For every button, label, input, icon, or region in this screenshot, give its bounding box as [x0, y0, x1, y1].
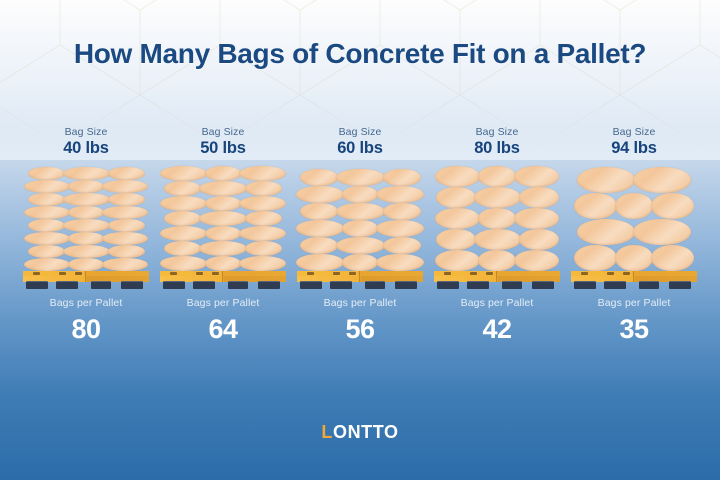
bag-row — [160, 196, 286, 211]
concrete-bag — [24, 258, 70, 271]
concrete-bag — [245, 181, 282, 196]
concrete-bag — [245, 211, 282, 226]
concrete-bag — [577, 167, 635, 193]
bag-row — [434, 250, 560, 271]
bag-size-label: Bag Size — [65, 126, 108, 138]
pallet-seam — [222, 271, 223, 282]
pallet-notch — [349, 272, 356, 275]
concrete-bag — [300, 169, 338, 186]
wooden-pallet — [23, 271, 149, 289]
concrete-bag — [383, 203, 421, 220]
concrete-bag — [376, 254, 424, 271]
concrete-bag — [205, 256, 241, 271]
pallet-notch — [212, 272, 219, 275]
pallet-seam — [85, 271, 86, 282]
pallet-comparison-row: Bag Size 40 lbs — [20, 126, 700, 345]
pallet-notch — [33, 272, 40, 275]
concrete-bag — [63, 245, 110, 258]
concrete-bag — [199, 241, 247, 256]
bags-per-pallet-label: Bags per Pallet — [598, 297, 671, 309]
bag-row — [571, 245, 697, 271]
pallet-column-60lbs: Bag Size 60 lbs — [294, 126, 426, 345]
pallet-foot — [26, 281, 48, 289]
concrete-bag — [108, 193, 145, 206]
concrete-bag — [383, 237, 421, 254]
concrete-bag — [342, 186, 378, 203]
pallet-notch — [486, 272, 493, 275]
bag-row — [297, 254, 423, 271]
bags-per-pallet-value: 64 — [208, 314, 237, 345]
concrete-bag — [164, 241, 201, 256]
concrete-bag — [336, 169, 385, 186]
concrete-bag — [160, 226, 207, 241]
bag-size-label: Bag Size — [476, 126, 519, 138]
pallet-foot — [532, 281, 554, 289]
logo-wordmark: ONTTO — [333, 422, 399, 442]
concrete-bag — [577, 219, 635, 245]
bag-row — [297, 237, 423, 254]
concrete-bag — [615, 193, 653, 219]
concrete-bag — [342, 254, 378, 271]
concrete-bag — [102, 258, 148, 271]
concrete-bag — [633, 167, 691, 193]
concrete-bag — [336, 237, 385, 254]
wooden-pallet — [160, 271, 286, 289]
bag-row — [23, 232, 149, 245]
pallet-notch — [170, 272, 177, 275]
pallet-notch — [333, 272, 340, 275]
concrete-bag — [102, 232, 148, 245]
concrete-bag — [514, 208, 559, 229]
concrete-bag — [63, 193, 110, 206]
concrete-bag — [68, 258, 104, 271]
concrete-bag — [239, 196, 286, 211]
pallet-stack-illustration — [571, 167, 697, 289]
concrete-bag — [24, 206, 70, 219]
bag-row — [297, 203, 423, 220]
concrete-bag — [205, 166, 241, 181]
wooden-pallet — [571, 271, 697, 289]
bag-row — [160, 226, 286, 241]
concrete-bag — [478, 208, 516, 229]
pallet-notch — [75, 272, 82, 275]
bag-stack — [571, 167, 697, 271]
wooden-pallet — [297, 271, 423, 289]
bag-size-value: 60 lbs — [337, 139, 383, 158]
concrete-bag — [205, 226, 241, 241]
bag-stack — [434, 166, 560, 271]
concrete-bag — [68, 232, 104, 245]
concrete-bag — [160, 256, 207, 271]
concrete-bag — [108, 245, 145, 258]
concrete-bag — [519, 187, 559, 208]
pallet-foot — [300, 281, 322, 289]
concrete-bag — [519, 229, 559, 250]
concrete-bag — [108, 219, 145, 232]
bag-row — [434, 208, 560, 229]
pallet-foot — [91, 281, 111, 289]
concrete-bag — [651, 245, 694, 271]
bag-row — [23, 245, 149, 258]
pallet-column-50lbs: Bag Size 50 lbs — [157, 126, 289, 345]
bag-row — [434, 229, 560, 250]
pallet-notch — [470, 272, 477, 275]
bag-row — [160, 211, 286, 226]
pallet-foot — [395, 281, 417, 289]
concrete-bag — [574, 245, 617, 271]
concrete-bag — [199, 211, 247, 226]
wooden-pallet — [434, 271, 560, 289]
bag-row — [297, 186, 423, 203]
pallet-stack-illustration — [23, 167, 149, 289]
concrete-bag — [205, 196, 241, 211]
pallet-notch — [307, 272, 314, 275]
concrete-bag — [239, 256, 286, 271]
concrete-bag — [436, 187, 476, 208]
bags-per-pallet-label: Bags per Pallet — [461, 297, 534, 309]
bag-stack — [160, 166, 286, 271]
bags-per-pallet-value: 42 — [482, 314, 511, 345]
concrete-bag — [102, 206, 148, 219]
bag-row — [23, 167, 149, 180]
bag-size-value: 80 lbs — [474, 139, 520, 158]
pallet-column-40lbs: Bag Size 40 lbs — [20, 126, 152, 345]
pallet-notch — [196, 272, 203, 275]
concrete-bag — [474, 187, 521, 208]
bag-size-value: 50 lbs — [200, 139, 246, 158]
concrete-bag — [514, 250, 559, 271]
bag-row — [23, 206, 149, 219]
pallet-seam — [496, 271, 497, 282]
concrete-bag — [24, 180, 70, 193]
concrete-bag — [296, 186, 344, 203]
concrete-bag — [574, 193, 617, 219]
concrete-bag — [102, 180, 148, 193]
bag-row — [434, 166, 560, 187]
pallet-notch — [607, 272, 614, 275]
concrete-bag — [474, 229, 521, 250]
concrete-bag — [478, 250, 516, 271]
pallet-foot — [467, 281, 489, 289]
concrete-bag — [63, 219, 110, 232]
pallet-foot — [365, 281, 385, 289]
bag-stack — [23, 167, 149, 271]
concrete-bag — [245, 241, 282, 256]
concrete-bag — [63, 167, 110, 180]
pallet-notch — [623, 272, 630, 275]
bag-row — [297, 169, 423, 186]
bag-stack — [297, 169, 423, 271]
page-title: How Many Bags of Concrete Fit on a Palle… — [0, 38, 720, 70]
pallet-foot — [228, 281, 248, 289]
concrete-bag — [296, 220, 344, 237]
bag-row — [571, 193, 697, 219]
pallet-notch — [581, 272, 588, 275]
concrete-bag — [164, 181, 201, 196]
bag-size-label: Bag Size — [613, 126, 656, 138]
bag-row — [160, 241, 286, 256]
concrete-bag — [28, 245, 65, 258]
concrete-bag — [296, 254, 344, 271]
bags-per-pallet-value: 80 — [71, 314, 100, 345]
pallet-seam — [633, 271, 634, 282]
concrete-bag — [68, 206, 104, 219]
concrete-bag — [376, 186, 424, 203]
pallet-seam — [359, 271, 360, 282]
concrete-bag — [336, 203, 385, 220]
concrete-bag — [651, 193, 694, 219]
concrete-bag — [300, 237, 338, 254]
pallet-foot — [669, 281, 691, 289]
concrete-bag — [435, 166, 480, 187]
bags-per-pallet-value: 56 — [345, 314, 374, 345]
pallet-foot — [258, 281, 280, 289]
bag-size-label: Bag Size — [339, 126, 382, 138]
pallet-foot — [639, 281, 659, 289]
bag-row — [23, 180, 149, 193]
concrete-bag — [376, 220, 424, 237]
bag-size-value: 94 lbs — [611, 139, 657, 158]
bags-per-pallet-label: Bags per Pallet — [324, 297, 397, 309]
concrete-bag — [436, 229, 476, 250]
bags-per-pallet-label: Bags per Pallet — [50, 297, 123, 309]
bag-row — [23, 258, 149, 271]
concrete-bag — [28, 167, 65, 180]
logo-accent-letter: L — [321, 422, 333, 442]
pallet-stack-illustration — [297, 167, 423, 289]
bag-size-value: 40 lbs — [63, 139, 109, 158]
concrete-bag — [28, 219, 65, 232]
bag-row — [23, 219, 149, 232]
concrete-bag — [160, 166, 207, 181]
concrete-bag — [514, 166, 559, 187]
bag-row — [160, 256, 286, 271]
concrete-bag — [435, 208, 480, 229]
pallet-foot — [604, 281, 626, 289]
bag-size-label: Bag Size — [202, 126, 245, 138]
concrete-bag — [199, 181, 247, 196]
concrete-bag — [24, 232, 70, 245]
pallet-notch — [444, 272, 451, 275]
concrete-bag — [633, 219, 691, 245]
concrete-bag — [28, 193, 65, 206]
concrete-bag — [108, 167, 145, 180]
pallet-stack-illustration — [160, 167, 286, 289]
pallet-foot — [193, 281, 215, 289]
pallet-foot — [574, 281, 596, 289]
bag-row — [160, 166, 286, 181]
bag-row — [297, 220, 423, 237]
concrete-bag — [164, 211, 201, 226]
bags-per-pallet-value: 35 — [619, 314, 648, 345]
bag-row — [571, 219, 697, 245]
pallet-foot — [330, 281, 352, 289]
concrete-bag — [160, 196, 207, 211]
concrete-bag — [239, 166, 286, 181]
concrete-bag — [239, 226, 286, 241]
pallet-foot — [163, 281, 185, 289]
concrete-bag — [435, 250, 480, 271]
pallet-foot — [56, 281, 78, 289]
concrete-bag — [478, 166, 516, 187]
bag-row — [571, 167, 697, 193]
concrete-bag — [383, 169, 421, 186]
concrete-bag — [342, 220, 378, 237]
pallet-column-94lbs: Bag Size 94 lbs — [568, 126, 700, 345]
pallet-foot — [121, 281, 143, 289]
pallet-foot — [437, 281, 459, 289]
bag-row — [160, 181, 286, 196]
concrete-bag — [300, 203, 338, 220]
bag-row — [23, 193, 149, 206]
pallet-column-80lbs: Bag Size 80 lbs — [431, 126, 563, 345]
pallet-foot — [502, 281, 522, 289]
bag-row — [434, 187, 560, 208]
bags-per-pallet-label: Bags per Pallet — [187, 297, 260, 309]
infographic-canvas: How Many Bags of Concrete Fit on a Palle… — [0, 0, 720, 480]
pallet-stack-illustration — [434, 167, 560, 289]
concrete-bag — [615, 245, 653, 271]
pallet-notch — [59, 272, 66, 275]
concrete-bag — [68, 180, 104, 193]
brand-logo: LONTTO — [0, 422, 720, 443]
